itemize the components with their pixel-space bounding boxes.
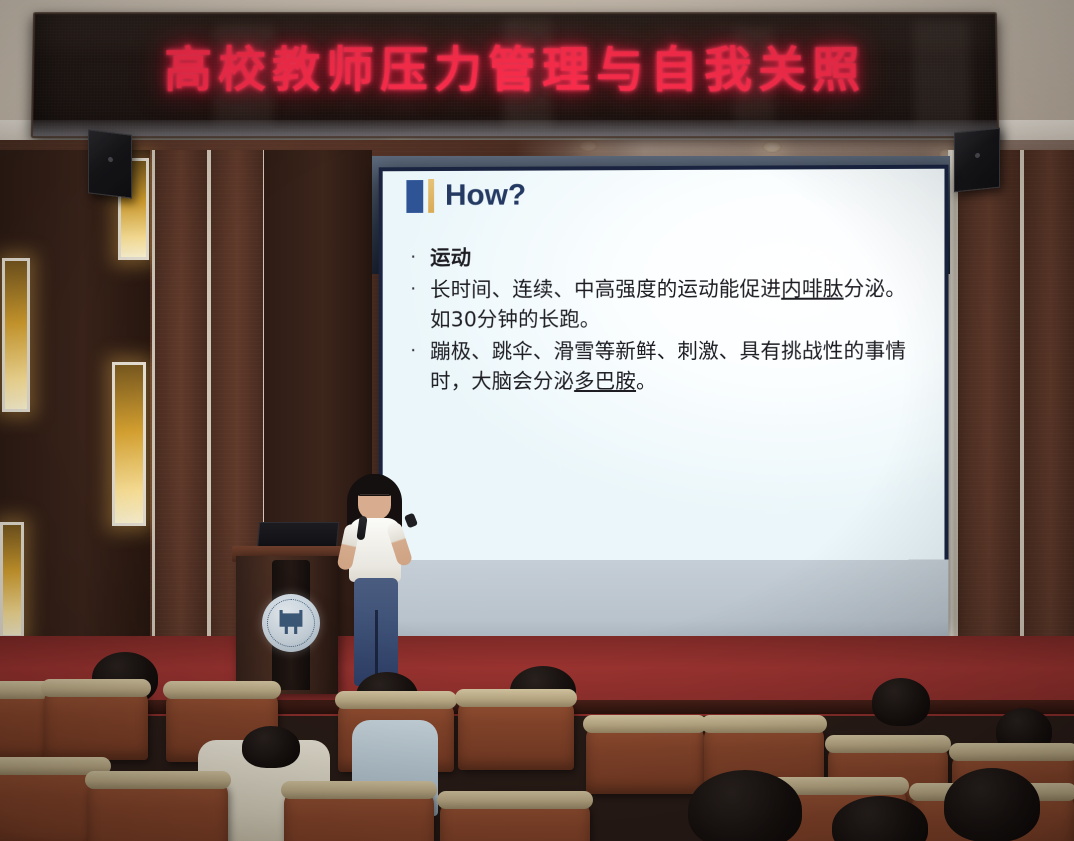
list-item: · 运动: [410, 241, 922, 272]
presentation-clicker-icon: [404, 513, 418, 529]
slide-accent-block: [406, 180, 423, 213]
slide-bullet-list: · 运动 · 长时间、连续、中高强度的运动能促进内啡肽分泌。如30分钟的长跑。 …: [410, 241, 922, 398]
auditorium-seat: [44, 688, 148, 760]
bullet-text-0: 运动: [430, 241, 922, 272]
loudspeaker-icon: [954, 128, 1000, 193]
audience-head: [872, 678, 930, 726]
led-banner: 高校教师压力管理与自我关照: [31, 12, 999, 138]
bullet-marker: ·: [410, 275, 430, 305]
audience-head: [944, 768, 1040, 841]
bullet-text-1: 长时间、连续、中高强度的运动能促进内啡肽分泌。如30分钟的长跑。: [430, 273, 922, 334]
led-banner-text: 高校教师压力管理与自我关照: [34, 30, 997, 100]
audience-head: [242, 726, 300, 768]
presenter: [330, 470, 422, 700]
auditorium-seat: [458, 698, 574, 770]
wall-panel: [152, 150, 210, 670]
university-crest-icon: [262, 594, 320, 652]
slide-title-row: How?: [406, 179, 526, 213]
wall-panel: [1021, 150, 1074, 670]
wall-light-niche: [0, 522, 24, 638]
auditorium-scene: 高校教师压力管理与自我关照 How? · 运动: [0, 0, 1074, 841]
auditorium-seat: [586, 724, 704, 794]
bullet-text-2: 蹦极、跳伞、滑雪等新鲜、刺激、具有挑战性的事情时，大脑会分泌多巴胺。: [430, 336, 922, 396]
auditorium-seat: [440, 800, 590, 841]
list-item: · 长时间、连续、中高强度的运动能促进内啡肽分泌。如30分钟的长跑。: [410, 273, 922, 334]
audience-head: [688, 770, 802, 841]
presenter-hair-top: [355, 474, 394, 496]
wall-light-niche: [112, 362, 146, 526]
auditorium-seat: [284, 790, 434, 841]
bullet-marker: ·: [410, 243, 430, 273]
bullet-marker: ·: [410, 336, 430, 366]
slide: How? · 运动 · 长时间、连续、中高强度的运动能促进内啡肽分泌。如30分钟…: [383, 169, 945, 570]
list-item: · 蹦极、跳伞、滑雪等新鲜、刺激、具有挑战性的事情时，大脑会分泌多巴胺。: [410, 336, 922, 396]
slide-accent-bar: [428, 179, 434, 213]
loudspeaker-icon: [88, 129, 132, 198]
auditorium-seat: [88, 780, 228, 841]
glasses-icon: [360, 494, 389, 501]
wall-light-niche: [2, 258, 30, 412]
slide-title: How?: [445, 181, 526, 211]
wall-panel: [955, 150, 1023, 670]
